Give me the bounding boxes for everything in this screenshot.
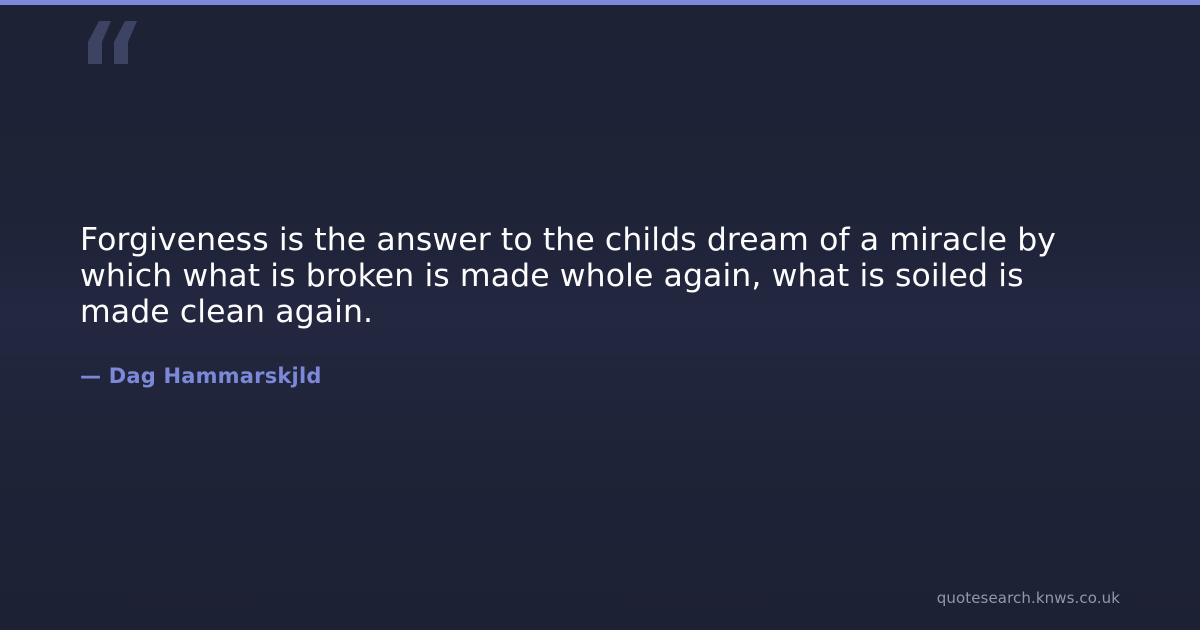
quote-text: Forgiveness is the answer to the childs …: [80, 222, 1120, 330]
quote-card: Forgiveness is the answer to the childs …: [0, 0, 1200, 630]
quote-author-attribution: — Dag Hammarskjld: [80, 330, 1120, 389]
double-quote-open-icon: [80, 18, 150, 78]
top-accent-bar: [0, 0, 1200, 5]
quote-content: Forgiveness is the answer to the childs …: [80, 222, 1120, 389]
source-watermark: quotesearch.knws.co.uk: [937, 588, 1120, 608]
